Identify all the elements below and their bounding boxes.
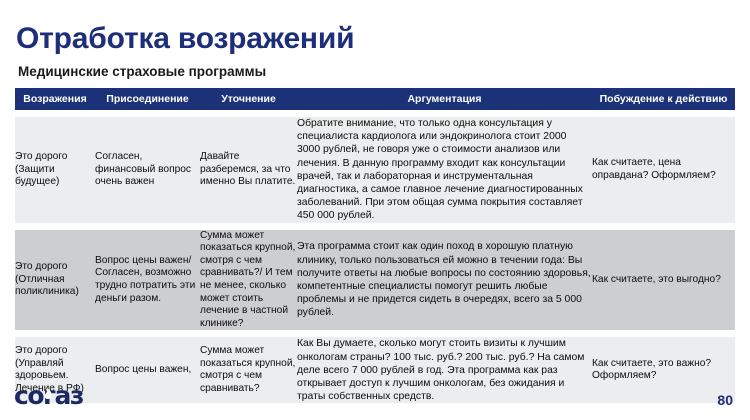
spacer-cell: [95, 110, 200, 117]
slide-canvas: Отработка возражений Медицинские страхов…: [0, 0, 750, 420]
column-header-joining: Присоединение: [95, 88, 200, 110]
spacer-cell: [200, 330, 297, 337]
spacer-cell: [592, 223, 735, 230]
cell-call-to-action: Как считаете, цена оправдана? Оформляем?: [592, 117, 735, 223]
objections-table: Возражения Присоединение Уточнение Аргум…: [15, 88, 735, 403]
cell-clarification: Давайте разберемся, за что именно Вы пла…: [200, 117, 297, 223]
spacer-cell: [15, 330, 95, 337]
cell-joining: Согласен, финансовый вопрос очень важен: [95, 117, 200, 223]
spacer-cell: [297, 330, 592, 337]
cell-clarification: Сумма может показаться крупной, смотря с…: [200, 337, 297, 403]
column-header-argumentation: Аргументация: [297, 88, 592, 110]
page-title: Отработка возражений: [16, 22, 354, 56]
column-header-call-to-action: Побуждение к действию: [592, 88, 735, 110]
spacer-cell: [592, 110, 735, 117]
sogaz-logo-mark: согаз: [14, 383, 124, 409]
cell-clarification: Сумма может показаться крупной, смотря с…: [200, 230, 297, 331]
spacer-cell: [95, 330, 200, 337]
cell-call-to-action: Как считаете, это выгодно?: [592, 230, 735, 331]
table-row: Это дорого (Отличная поликлиника) Вопрос…: [15, 230, 735, 331]
sogaz-logo: согаз: [14, 383, 124, 409]
page-subtitle: Медицинские страховые программы: [18, 64, 266, 79]
spacer-cell: [297, 110, 592, 117]
table-spacer: [15, 223, 735, 230]
spacer-cell: [200, 223, 297, 230]
spacer-cell: [15, 110, 95, 117]
table-row: Это дорого (Защити будущее) Согласен, фи…: [15, 117, 735, 223]
table-header-row: Возражения Присоединение Уточнение Аргум…: [15, 88, 735, 110]
spacer-cell: [297, 223, 592, 230]
cell-objection: Это дорого (Отличная поликлиника): [15, 230, 95, 331]
spacer-cell: [95, 223, 200, 230]
cell-argumentation: Обратите внимание, что только одна консу…: [297, 117, 592, 223]
cell-objection: Это дорого (Защити будущее): [15, 117, 95, 223]
column-header-clarification: Уточнение: [200, 88, 297, 110]
cell-call-to-action: Как считаете, это важно? Оформляем?: [592, 337, 735, 403]
table-spacer: [15, 330, 735, 337]
spacer-cell: [592, 330, 735, 337]
cell-joining: Вопрос цены важен/ Согласен, возможно тр…: [95, 230, 200, 331]
cell-argumentation: Как Вы думаете, сколько могут стоить виз…: [297, 337, 592, 403]
cell-argumentation: Эта программа стоит как один поход в хор…: [297, 230, 592, 331]
spacer-cell: [15, 223, 95, 230]
column-header-objections: Возражения: [15, 88, 95, 110]
spacer-cell: [200, 110, 297, 117]
page-number: 80: [717, 392, 733, 408]
table-spacer: [15, 110, 735, 117]
